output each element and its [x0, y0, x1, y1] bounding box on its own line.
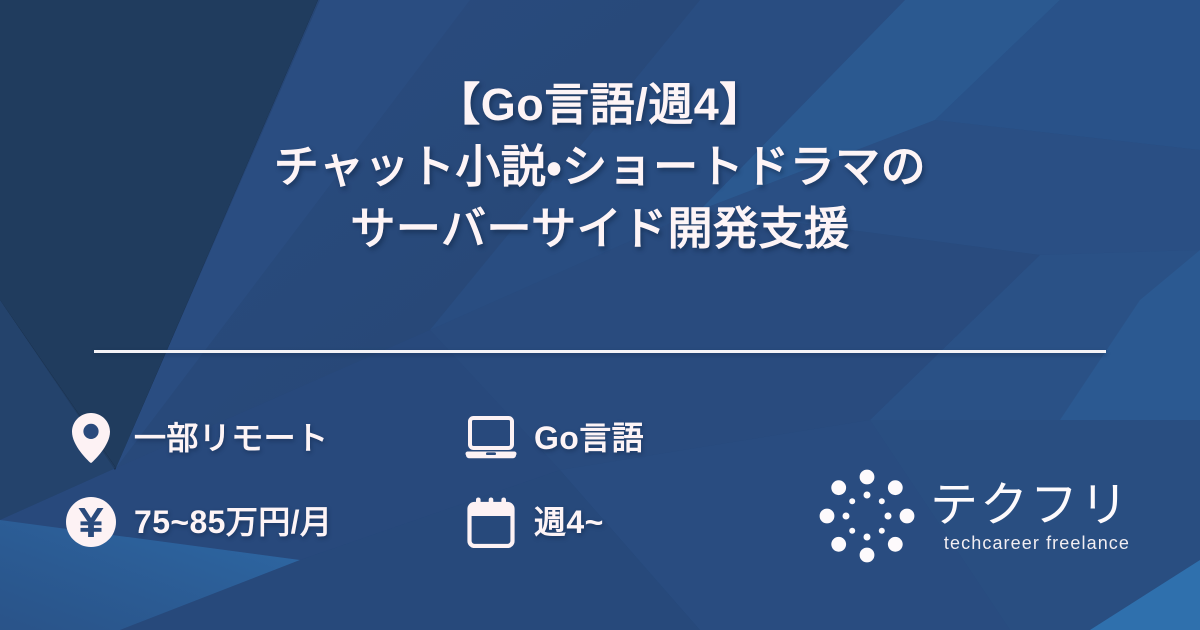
- dot-circle-logo-icon: [818, 468, 916, 564]
- meta-item-location: 一部リモート: [64, 411, 464, 465]
- meta-label-location: 一部リモート: [134, 422, 328, 454]
- brand-logo: テクフリ techcareer freelance: [818, 466, 1138, 566]
- banner-title: 【Go言語/週4】 チャット小説・ショートドラマの サーバーサイド開発支援: [0, 74, 1200, 260]
- title-line-3: サーバーサイド開発支援: [0, 198, 1200, 260]
- meta-item-workdays: 週4~: [464, 495, 644, 549]
- logo-name-en: techcareer freelance: [944, 532, 1130, 554]
- job-meta-list: 一部リモート Go言語: [64, 396, 644, 564]
- yen-circle-icon: [64, 495, 118, 549]
- meta-label-workdays: 週4~: [534, 506, 604, 538]
- laptop-icon: [464, 411, 518, 465]
- title-line-1: 【Go言語/週4】: [0, 74, 1200, 136]
- location-pin-icon: [64, 411, 118, 465]
- meta-item-language: Go言語: [464, 411, 644, 465]
- meta-item-salary: 75~85万円/月: [64, 495, 464, 549]
- calendar-icon: [464, 495, 518, 549]
- horizontal-divider: [94, 350, 1106, 353]
- logo-name-jp: テクフリ: [930, 480, 1130, 532]
- title-line-2: チャット小説・ショートドラマの: [0, 136, 1200, 198]
- job-card-banner: 【Go言語/週4】 チャット小説・ショートドラマの サーバーサイド開発支援 一部…: [0, 0, 1200, 630]
- meta-label-salary: 75~85万円/月: [134, 506, 332, 538]
- logo-wordmark: テクフリ techcareer freelance: [930, 478, 1130, 554]
- meta-label-language: Go言語: [534, 422, 644, 454]
